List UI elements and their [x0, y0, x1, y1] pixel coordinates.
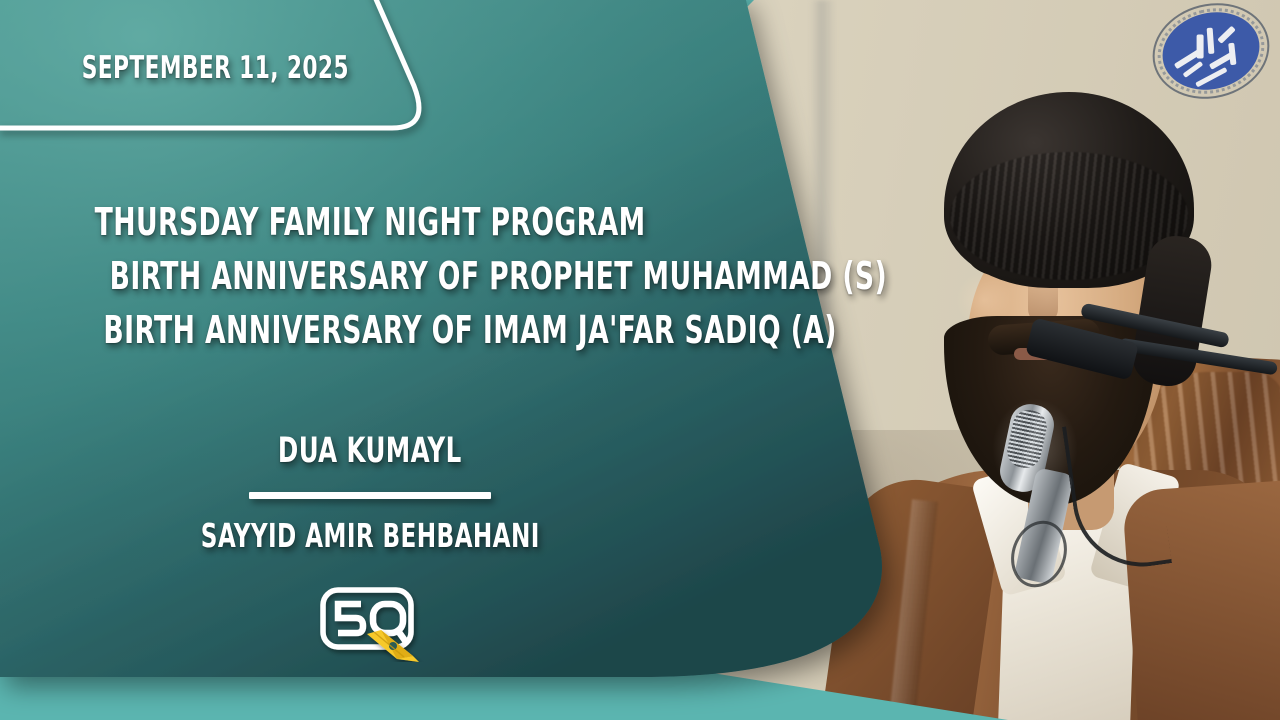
- logo-letter-q-tail: [396, 628, 406, 642]
- five-q-logo[interactable]: [318, 586, 424, 662]
- event-title-line-3: BIRTH ANNIVERSARY OF IMAM JA'FAR SADIQ (…: [0, 304, 740, 358]
- program-subject: DUA KUMAYL: [0, 428, 740, 474]
- event-date: SEPTEMBER 11, 2025: [0, 52, 430, 84]
- five-q-pen-nib-logo-icon: [318, 586, 424, 662]
- event-date-text: SEPTEMBER 11, 2025: [81, 53, 348, 84]
- event-title-line-1: THURSDAY FAMILY NIGHT PROGRAM: [0, 196, 740, 250]
- event-title-line-2: BIRTH ANNIVERSARY OF PROPHET MUHAMMAD (S…: [0, 250, 740, 304]
- logo-digit-five: [338, 604, 363, 633]
- subject-and-speaker-block: DUA KUMAYL SAYYID AMIR BEHBAHANI: [0, 428, 740, 560]
- speaker-name: SAYYID AMIR BEHBAHANI: [0, 512, 740, 560]
- event-title-block: THURSDAY FAMILY NIGHT PROGRAM BIRTH ANNI…: [0, 196, 740, 358]
- divider-rule: [249, 492, 491, 499]
- video-title-card: SEPTEMBER 11, 2025 THURSDAY FAMILY NIGHT…: [0, 0, 1280, 720]
- title-card-content: SEPTEMBER 11, 2025 THURSDAY FAMILY NIGHT…: [0, 0, 1280, 720]
